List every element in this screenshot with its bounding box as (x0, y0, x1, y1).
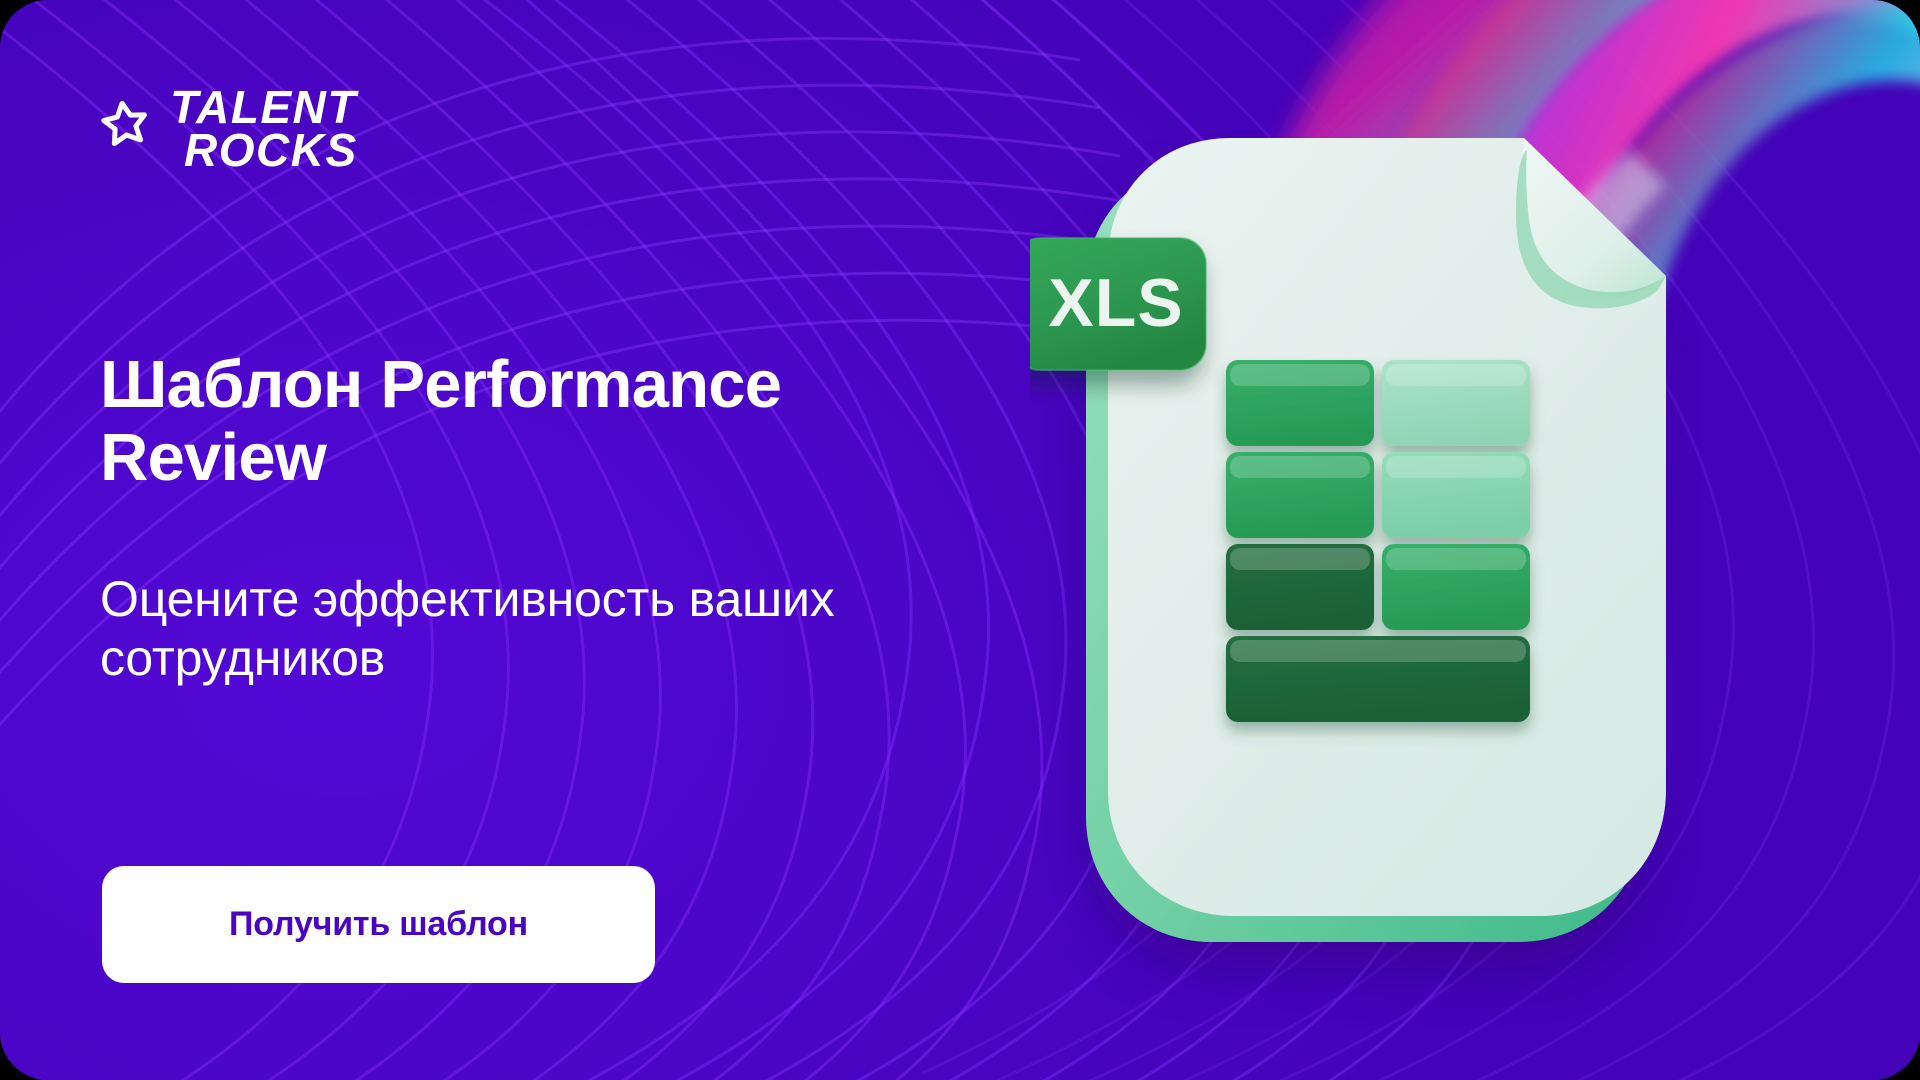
banner-content: TALENT ROCKS Шаблон Performance Review О… (100, 0, 1000, 1080)
page-title: Шаблон Performance Review (100, 348, 940, 494)
star-outline-icon (100, 98, 152, 150)
brand-logo-text: TALENT ROCKS (170, 86, 358, 172)
page-subtitle: Оцените эффективность ваших сотрудников (100, 570, 880, 688)
get-template-button[interactable]: Получить шаблон (102, 866, 655, 983)
brand-logo-line1: TALENT (170, 86, 358, 129)
promo-banner: TALENT ROCKS Шаблон Performance Review О… (0, 0, 1920, 1080)
brand-logo[interactable]: TALENT ROCKS (100, 86, 358, 172)
xls-badge-label: XLS (1048, 265, 1183, 341)
xls-document-illustration: XLS (1030, 0, 1920, 1080)
brand-logo-line2: ROCKS (184, 129, 358, 172)
